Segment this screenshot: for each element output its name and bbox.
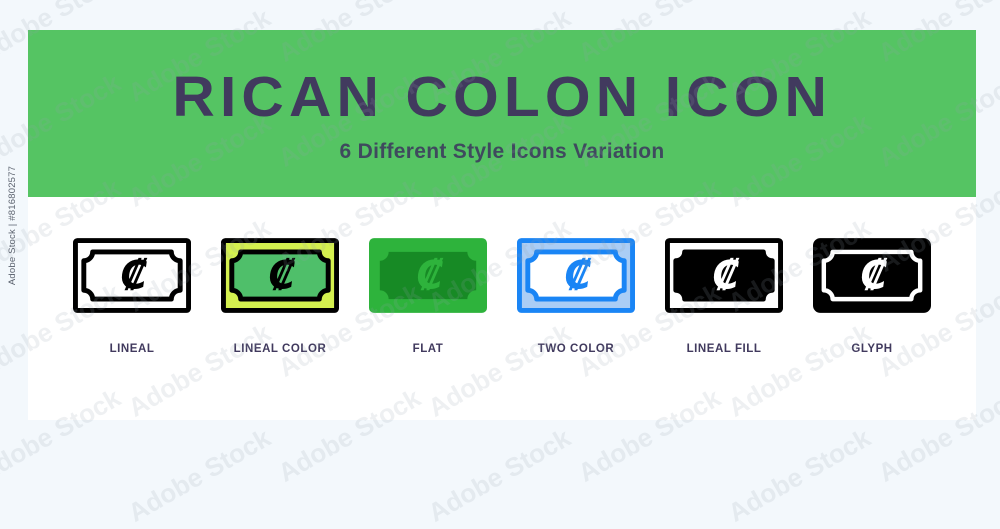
- icon-style-label: GLYPH: [851, 343, 892, 355]
- icon-style-label: LINEAL COLOR: [234, 343, 327, 355]
- watermark-tile: Adobe Stock: [123, 422, 276, 528]
- rican-colon-glyph-icon[interactable]: ₡: [812, 233, 932, 317]
- rican-colon-lineal-color-icon[interactable]: ₡: [220, 233, 340, 317]
- icon-variation-cell[interactable]: ₡TWO COLOR: [502, 233, 650, 355]
- icon-variation-cell[interactable]: ₡LINEAL FILL: [650, 233, 798, 355]
- rican-colon-lineal-fill-icon[interactable]: ₡: [664, 233, 784, 317]
- icon-style-label: FLAT: [413, 343, 444, 355]
- adobe-stock-watermark-text: Adobe Stock | #816802577: [8, 165, 19, 284]
- rican-colon-two-color-icon[interactable]: ₡: [516, 233, 636, 317]
- rican-colon-lineal-fill-icon-svg: ₡: [665, 238, 783, 313]
- poster-card: RICAN COLON ICON 6 Different Style Icons…: [28, 30, 976, 420]
- rican-colon-flat-icon-svg: ₡: [369, 238, 487, 313]
- watermark-tile: Adobe Stock: [723, 422, 876, 528]
- rican-colon-two-color-icon-svg: ₡: [517, 238, 635, 313]
- page-title: RICAN COLON ICON: [172, 69, 832, 126]
- icon-style-label: TWO COLOR: [538, 343, 615, 355]
- rican-colon-glyph-icon-svg: ₡: [813, 238, 931, 313]
- watermark-tile: Adobe Stock: [423, 422, 576, 528]
- poster-header: RICAN COLON ICON 6 Different Style Icons…: [28, 30, 976, 197]
- icon-variation-cell[interactable]: ₡GLYPH: [798, 233, 946, 355]
- icon-style-label: LINEAL FILL: [687, 343, 762, 355]
- icon-variations-row: ₡LINEAL₡LINEAL COLOR₡FLAT₡TWO COLOR₡LINE…: [28, 197, 976, 420]
- icon-variation-cell[interactable]: ₡FLAT: [354, 233, 502, 355]
- icon-style-label: LINEAL: [110, 343, 155, 355]
- adobe-stock-watermark-left: Adobe Stock | #816802577: [2, 0, 24, 450]
- page-subtitle: 6 Different Style Icons Variation: [340, 140, 665, 164]
- icon-variation-cell[interactable]: ₡LINEAL COLOR: [206, 233, 354, 355]
- icon-variation-cell[interactable]: ₡LINEAL: [58, 233, 206, 355]
- rican-colon-lineal-icon-svg: ₡: [73, 238, 191, 313]
- rican-colon-lineal-icon[interactable]: ₡: [72, 233, 192, 317]
- rican-colon-lineal-color-icon-svg: ₡: [221, 238, 339, 313]
- rican-colon-flat-icon[interactable]: ₡: [368, 233, 488, 317]
